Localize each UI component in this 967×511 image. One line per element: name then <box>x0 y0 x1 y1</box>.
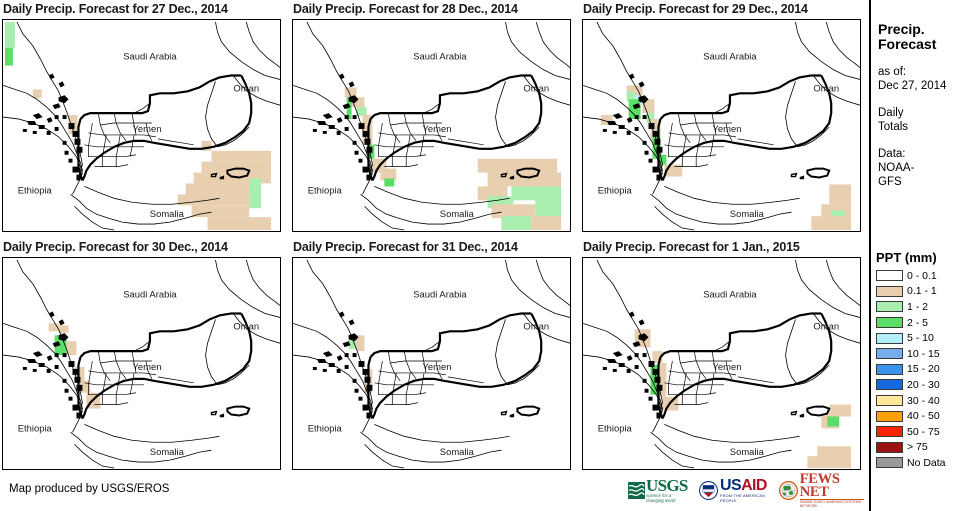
precip-cell <box>829 184 851 204</box>
forecast-panel: Daily Precip. Forecast for 29 Dec., 2014… <box>582 2 870 240</box>
legend-row: 20 - 30 <box>876 377 967 393</box>
legend-row: 2 - 5 <box>876 315 967 331</box>
map-frame: Saudi ArabiaOmanYemenEthiopiaSomalia <box>292 19 571 232</box>
legend-swatch <box>876 395 903 406</box>
usaid-tagline: FROM THE AMERICAN PEOPLE <box>720 493 770 503</box>
map-label-oman: Oman <box>523 82 549 93</box>
precip-cell <box>186 183 250 194</box>
legend-rows: 0 - 0.10.1 - 11 - 22 - 55 - 1010 - 1515 … <box>876 268 967 471</box>
legend-row: 30 - 40 <box>876 393 967 409</box>
totals-block: Daily Totals <box>878 106 967 134</box>
legend-label: 10 - 15 <box>907 348 940 360</box>
legend-label: 40 - 50 <box>907 410 940 422</box>
legend-label: 5 - 10 <box>907 332 934 344</box>
map-frame: Saudi ArabiaOmanYemenEthiopiaSomalia <box>292 257 571 470</box>
map-label-yemen: Yemen <box>422 361 451 372</box>
map-label-ethiopia: Ethiopia <box>308 422 343 433</box>
map-label-ethiopia: Ethiopia <box>598 184 633 195</box>
map-label-ethiopia: Ethiopia <box>18 184 53 195</box>
map-label-somalia: Somalia <box>440 208 475 219</box>
map-label-oman: Oman <box>813 82 839 93</box>
map-label-saudi-arabia: Saudi Arabia <box>703 51 757 62</box>
legend-row: 5 - 10 <box>876 330 967 346</box>
usaid-seal-icon <box>699 481 718 500</box>
precip-cell <box>492 204 536 218</box>
usaid-word-aid: AID <box>741 477 767 494</box>
map-label-yemen: Yemen <box>712 361 741 372</box>
map-label-yemen: Yemen <box>712 123 741 134</box>
legend-swatch <box>876 333 903 344</box>
map-frame: Saudi ArabiaOmanYemenEthiopiaSomalia <box>2 19 281 232</box>
map-label-somalia: Somalia <box>730 208 765 219</box>
map-label-saudi-arabia: Saudi Arabia <box>703 289 757 300</box>
map-frame: Saudi ArabiaOmanYemenEthiopiaSomalia <box>582 257 861 470</box>
data-source-label: Data: <box>878 147 967 161</box>
map-label-ethiopia: Ethiopia <box>18 422 53 433</box>
forecast-panel: Daily Precip. Forecast for 27 Dec., 2014… <box>2 2 290 240</box>
legend-row: 15 - 20 <box>876 362 967 378</box>
data-source-line2: GFS <box>878 175 967 189</box>
panel-title: Daily Precip. Forecast for 1 Jan., 2015 <box>582 240 870 257</box>
legend-row: 0.1 - 1 <box>876 284 967 300</box>
precip-cell <box>5 22 15 48</box>
legend-label: 15 - 20 <box>907 363 940 375</box>
legend-swatch <box>876 348 903 359</box>
map-label-saudi-arabia: Saudi Arabia <box>123 289 177 300</box>
precip-cell <box>33 89 42 98</box>
map-label-yemen: Yemen <box>132 361 161 372</box>
precip-cell <box>811 216 851 230</box>
precip-cell <box>249 178 261 208</box>
map-credit: Map produced by USGS/EROS <box>9 483 169 495</box>
legend-row: 40 - 50 <box>876 408 967 424</box>
fews-net-logo: FEWS NET FAMINE EARLY WARNING SYSTEMS NE… <box>779 476 864 506</box>
map-label-somalia: Somalia <box>440 446 475 457</box>
map-svg: Saudi ArabiaOmanYemenEthiopiaSomalia <box>293 20 570 231</box>
precip-cell <box>211 151 271 162</box>
map-label-oman: Oman <box>233 320 259 331</box>
map-label-yemen: Yemen <box>132 123 161 134</box>
map-label-oman: Oman <box>813 320 839 331</box>
legend-label: 0 - 0.1 <box>907 270 937 282</box>
legend-swatch <box>876 457 903 468</box>
precip-cell <box>807 456 851 468</box>
legend-swatch <box>876 270 903 281</box>
legend-swatch <box>876 286 903 297</box>
precip-cell <box>208 217 272 230</box>
legend-label: > 75 <box>907 441 928 453</box>
map-label-somalia: Somalia <box>150 446 185 457</box>
legend-swatch <box>876 317 903 328</box>
panel-title: Daily Precip. Forecast for 30 Dec., 2014 <box>2 240 290 257</box>
legend-row: No Data <box>876 455 967 471</box>
forecast-panel-grid: Daily Precip. Forecast for 27 Dec., 2014… <box>0 0 868 475</box>
usgs-logo: USGS science for a changing world <box>628 476 690 506</box>
map-label-saudi-arabia: Saudi Arabia <box>413 289 467 300</box>
forecast-panel: Daily Precip. Forecast for 28 Dec., 2014… <box>292 2 580 240</box>
usaid-word-us: US <box>720 477 741 494</box>
legend-swatch <box>876 411 903 422</box>
legend-swatch <box>876 379 903 390</box>
precip-cell <box>202 162 271 173</box>
precip-legend: PPT (mm) 0 - 0.10.1 - 11 - 22 - 55 - 101… <box>869 250 967 471</box>
map-frame: Saudi ArabiaOmanYemenEthiopiaSomalia <box>2 257 281 470</box>
sidebar-title-line2: Forecast <box>878 37 967 52</box>
legend-row: 0 - 0.1 <box>876 268 967 284</box>
map-label-saudi-arabia: Saudi Arabia <box>413 51 467 62</box>
totals-line2: Totals <box>878 120 967 134</box>
fews-tagline: FAMINE EARLY WARNING SYSTEMS NETWORK <box>800 500 864 508</box>
map-label-oman: Oman <box>233 82 259 93</box>
legend-label: 1 - 2 <box>907 301 928 313</box>
totals-line1: Daily <box>878 106 967 120</box>
data-source-line1: NOAA- <box>878 161 967 175</box>
sidebar-title-line1: Precip. <box>878 22 967 37</box>
precip-cell <box>501 216 531 230</box>
map-svg: Saudi ArabiaOmanYemenEthiopiaSomalia <box>3 258 280 469</box>
map-svg: Saudi ArabiaOmanYemenEthiopiaSomalia <box>583 20 860 231</box>
legend-title: PPT (mm) <box>876 250 967 265</box>
globe-icon <box>779 481 798 500</box>
precip-cell <box>629 99 641 119</box>
map-label-ethiopia: Ethiopia <box>598 422 633 433</box>
precip-cell <box>827 416 839 426</box>
legend-row: 1 - 2 <box>876 299 967 315</box>
forecast-panel: Daily Precip. Forecast for 31 Dec., 2014… <box>292 240 580 478</box>
legend-swatch <box>876 364 903 375</box>
map-frame: Saudi ArabiaOmanYemenEthiopiaSomalia <box>582 19 861 232</box>
map-label-oman: Oman <box>523 320 549 331</box>
as-of-block: as of: Dec 27, 2014 <box>878 65 967 93</box>
map-label-yemen: Yemen <box>422 123 451 134</box>
legend-label: 0.1 - 1 <box>907 285 937 297</box>
map-svg: Saudi ArabiaOmanYemenEthiopiaSomalia <box>293 258 570 469</box>
usgs-wave-icon <box>628 482 645 499</box>
map-label-somalia: Somalia <box>150 208 185 219</box>
precip-cell <box>208 194 250 205</box>
precip-cell <box>384 178 394 186</box>
panel-title: Daily Precip. Forecast for 31 Dec., 2014 <box>292 240 580 257</box>
legend-label: No Data <box>907 457 946 469</box>
map-label-ethiopia: Ethiopia <box>308 184 343 195</box>
map-label-somalia: Somalia <box>730 446 765 457</box>
as-of-label: as of: <box>878 65 967 79</box>
precip-cell <box>488 173 561 187</box>
sidebar-title: Precip. Forecast <box>878 22 967 52</box>
legend-label: 2 - 5 <box>907 317 928 329</box>
precip-cell <box>531 216 561 230</box>
fews-wordmark: FEWS NET <box>800 473 864 499</box>
panel-title: Daily Precip. Forecast for 28 Dec., 2014 <box>292 2 580 19</box>
legend-label: 50 - 75 <box>907 426 940 438</box>
panel-title: Daily Precip. Forecast for 29 Dec., 2014 <box>582 2 870 19</box>
precip-cell <box>192 205 250 217</box>
data-source-block: Data: NOAA- GFS <box>878 147 967 189</box>
map-svg: Saudi ArabiaOmanYemenEthiopiaSomalia <box>3 20 280 231</box>
legend-row: 10 - 15 <box>876 346 967 362</box>
legend-label: 30 - 40 <box>907 395 940 407</box>
legend-swatch <box>876 426 903 437</box>
logo-bar: USGS science for a changing world USAID … <box>628 474 864 507</box>
precip-cell <box>5 48 13 66</box>
precip-cell <box>511 186 561 200</box>
map-svg: Saudi ArabiaOmanYemenEthiopiaSomalia <box>583 258 860 469</box>
legend-row: 50 - 75 <box>876 424 967 440</box>
forecast-panel: Daily Precip. Forecast for 30 Dec., 2014… <box>2 240 290 478</box>
usaid-wordmark: USAID <box>720 479 770 493</box>
usaid-logo: USAID FROM THE AMERICAN PEOPLE <box>699 476 770 506</box>
legend-swatch <box>876 301 903 312</box>
map-label-saudi-arabia: Saudi Arabia <box>123 51 177 62</box>
legend-swatch <box>876 442 903 453</box>
panel-title: Daily Precip. Forecast for 27 Dec., 2014 <box>2 2 290 19</box>
as-of-date: Dec 27, 2014 <box>878 79 967 93</box>
legend-row: > 75 <box>876 440 967 456</box>
usgs-wordmark: USGS <box>646 478 690 493</box>
forecast-panel: Daily Precip. Forecast for 1 Jan., 2015 … <box>582 240 870 478</box>
legend-label: 20 - 30 <box>907 379 940 391</box>
